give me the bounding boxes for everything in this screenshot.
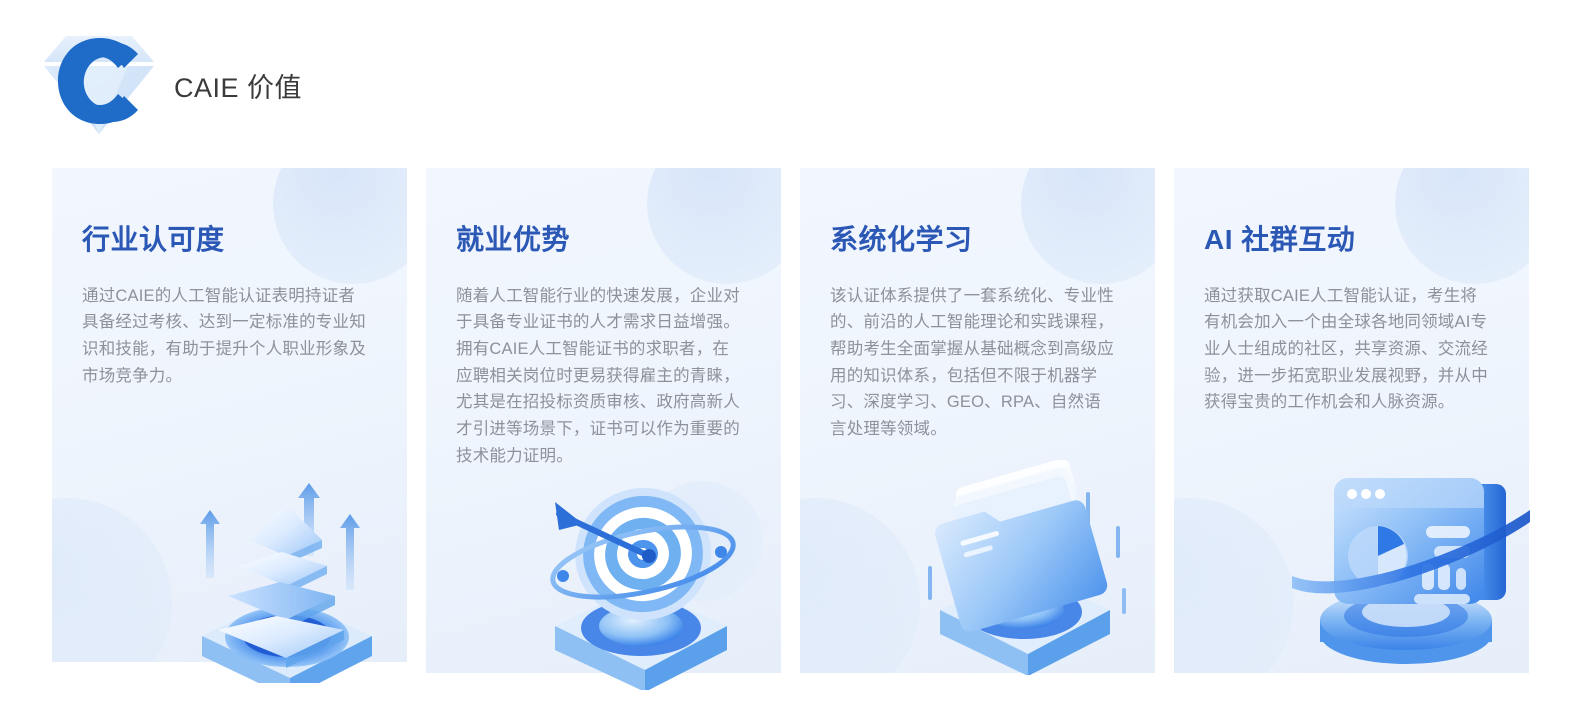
decorative-circle-icon bbox=[800, 498, 920, 673]
decorative-circle-icon bbox=[1174, 498, 1294, 673]
caie-diamond-logo-icon bbox=[38, 22, 160, 140]
card-title: 系统化学习 bbox=[830, 223, 1125, 257]
value-card-ai-community[interactable]: AI 社群互动 通过获取CAIE人工智能认证，考生将有机会加入一个由全球各地同领… bbox=[1174, 168, 1529, 673]
card-body-text: 通过获取CAIE人工智能认证，考生将有机会加入一个由全球各地同领域AI专业人士组… bbox=[1204, 283, 1489, 417]
page-header: CAIE 价值 bbox=[38, 22, 302, 140]
card-title: AI 社群互动 bbox=[1204, 223, 1499, 257]
card-body-text: 该认证体系提供了一套系统化、专业性的、前沿的人工智能理论和实践课程，帮助考生全面… bbox=[830, 283, 1115, 443]
card-title: 就业优势 bbox=[456, 223, 751, 257]
value-card-employment-advantage[interactable]: 就业优势 随着人工智能行业的快速发展，企业对于具备专业证书的人才需求日益增强。拥… bbox=[426, 168, 781, 673]
value-card-systematic-learning[interactable]: 系统化学习 该认证体系提供了一套系统化、专业性的、前沿的人工智能理论和实践课程，… bbox=[800, 168, 1155, 673]
page-title: CAIE 价值 bbox=[174, 66, 302, 105]
card-body-text: 通过CAIE的人工智能认证表明持证者具备经过考核、达到一定标准的专业知识和技能，… bbox=[82, 283, 367, 390]
value-card-industry-recognition[interactable]: 行业认可度 通过CAIE的人工智能认证表明持证者具备经过考核、达到一定标准的专业… bbox=[52, 168, 407, 662]
card-body-text: 随着人工智能行业的快速发展，企业对于具备专业证书的人才需求日益增强。拥有CAIE… bbox=[456, 283, 741, 470]
value-cards-row: 行业认可度 通过CAIE的人工智能认证表明持证者具备经过考核、达到一定标准的专业… bbox=[52, 168, 1554, 688]
decorative-circle-icon bbox=[52, 498, 172, 662]
card-title: 行业认可度 bbox=[82, 223, 377, 257]
decorative-circle-icon bbox=[643, 481, 763, 601]
